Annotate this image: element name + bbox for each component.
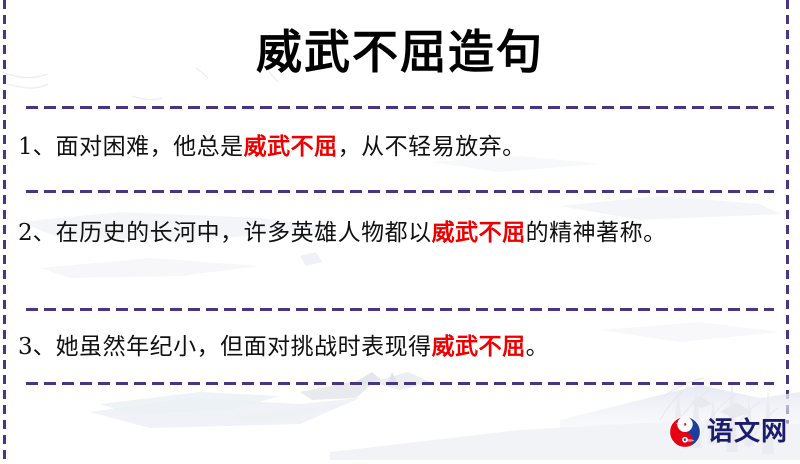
sentence-index-3: 3、 (18, 334, 56, 360)
keyword-highlight-1: 威武不屈 (244, 133, 338, 160)
logo-text: 语文网 (707, 417, 788, 447)
keyword-highlight-3: 威武不屈 (432, 333, 526, 360)
sentence-text-after-3: 。 (526, 334, 550, 360)
sentence-index-1: 1、 (18, 134, 56, 160)
divider-2 (26, 190, 774, 193)
page-title: 威武不屈造句 (0, 22, 800, 82)
page-canvas: 威武不屈造句 1、面对困难，他总是威武不屈，从不轻易放弃。 2、在历史的长河中，… (0, 0, 800, 464)
keyword-highlight-2: 威武不屈 (432, 219, 526, 246)
yinyang-fish-logo-icon (668, 415, 702, 449)
divider-1 (26, 106, 774, 109)
sentence-text-after-1: ，从不轻易放弃。 (338, 134, 526, 160)
sentence-text-before-2: 在历史的长河中，许多英雄人物都以 (56, 220, 432, 246)
sentence-text-before-1: 面对困难，他总是 (56, 134, 244, 160)
divider-4 (26, 382, 774, 385)
sentence-item-3: 3、她虽然年纪小，但面对挑战时表现得威武不屈。 (18, 326, 780, 368)
sentence-text-after-2: 的精神著称。 (526, 220, 667, 246)
sentence-item-2: 2、在历史的长河中，许多英雄人物都以威武不屈的精神著称。 (18, 212, 780, 254)
divider-3 (26, 308, 774, 311)
sentence-item-1: 1、面对困难，他总是威武不屈，从不轻易放弃。 (18, 126, 780, 168)
site-logo: 语文网 (668, 412, 788, 452)
sentence-text-before-3: 她虽然年纪小，但面对挑战时表现得 (56, 334, 432, 360)
sentence-index-2: 2、 (18, 220, 56, 246)
